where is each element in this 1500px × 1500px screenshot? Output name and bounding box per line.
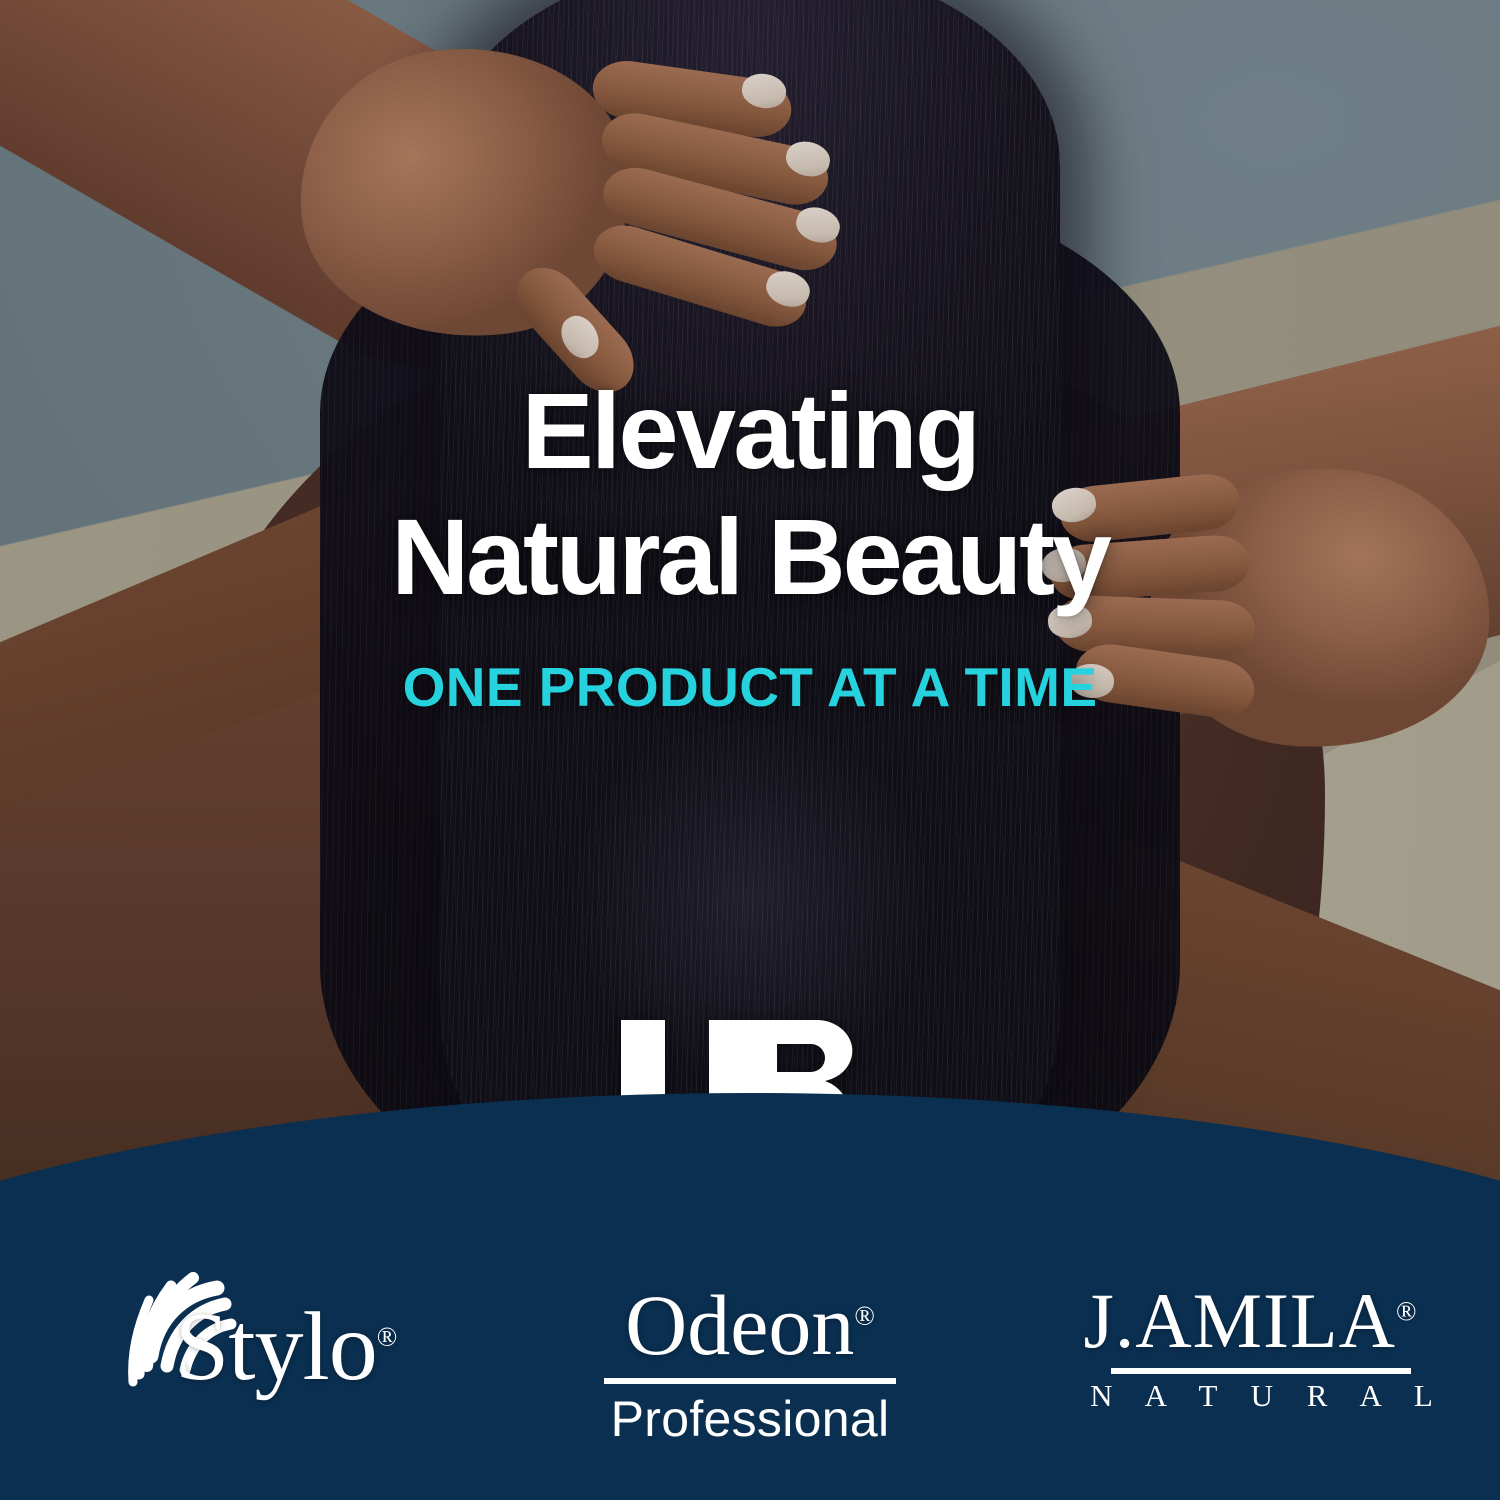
subheadline: ONE PRODUCT AT A TIME xyxy=(0,655,1500,719)
subheadline-text: ONE PRODUCT AT A TIME xyxy=(403,656,1098,718)
brand-name-stylo: Stylo® xyxy=(175,1298,397,1396)
registered-mark: ® xyxy=(1396,1296,1417,1326)
brand-logo-row: Stylo® Odeon® Professional J.AMILA® N A … xyxy=(0,1282,1500,1448)
brand-tagline-odeon: Professional xyxy=(611,1390,890,1448)
divider xyxy=(1111,1368,1411,1374)
page-title: Elevating Natural Beauty xyxy=(0,368,1500,621)
registered-mark: ® xyxy=(377,1321,398,1351)
brand-logo-stylo[interactable]: Stylo® xyxy=(0,1282,500,1422)
brand-logo-odeon[interactable]: Odeon® Professional xyxy=(500,1282,1000,1448)
brand-name-odeon: Odeon® xyxy=(625,1282,875,1368)
registered-mark: ® xyxy=(854,1300,875,1330)
brand-tagline-jamila: N A T U R A L xyxy=(1054,1378,1446,1414)
brand-name-jamila: J.AMILA® xyxy=(1083,1282,1416,1360)
brand-logo-jamila[interactable]: J.AMILA® N A T U R A L xyxy=(1000,1282,1500,1414)
headline-line-1: Elevating xyxy=(522,370,979,491)
headline-line-2: Natural Beauty xyxy=(0,494,1500,620)
divider xyxy=(604,1378,896,1384)
promotional-banner: Elevating Natural Beauty ONE PRODUCT AT … xyxy=(0,0,1500,1500)
